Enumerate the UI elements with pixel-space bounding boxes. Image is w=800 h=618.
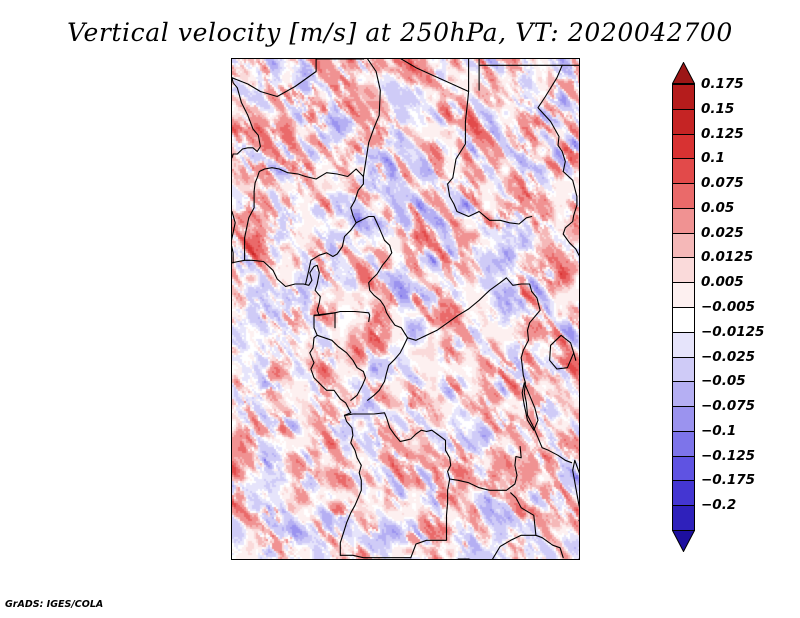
- y-axis-tick: [231, 278, 232, 279]
- colorbar-tick-label: 0.15: [701, 101, 734, 117]
- x-axis-tick: [469, 559, 470, 560]
- colorbar-tick-label: 0.025: [701, 225, 744, 241]
- grads-plot-page: Vertical velocity [m/s] at 250hPa, VT: 2…: [0, 0, 800, 618]
- colorbar-tick-label: −0.1: [701, 423, 736, 439]
- colorbar-band: [672, 233, 695, 259]
- colorbar-tick-label: −0.0125: [701, 324, 764, 340]
- colorbar-tick-label: −0.175: [701, 472, 755, 488]
- y-axis-tick: [231, 153, 232, 154]
- colorbar-band: [672, 480, 695, 506]
- x-axis-tick: [563, 559, 564, 560]
- y-axis-tick: [231, 90, 232, 91]
- y-axis-tick: [231, 528, 232, 529]
- colorbar-tick-label: 0.0125: [701, 249, 753, 265]
- colorbar-tick-label: 0.075: [701, 175, 744, 191]
- colorbar-tick-label: −0.05: [701, 373, 746, 389]
- colorbar-band: [672, 109, 695, 135]
- colorbar-tick-label: 0.125: [701, 126, 744, 142]
- colorbar-band: [672, 332, 695, 358]
- colorbar-tick-label: −0.025: [701, 349, 755, 365]
- x-axis-tick: [437, 559, 438, 560]
- y-axis-tick: [231, 340, 232, 341]
- colorbar-tick-label: 0.005: [701, 274, 744, 290]
- colorbar-tick-label: 0.05: [701, 200, 734, 216]
- colorbar-band: [672, 357, 695, 383]
- colorbar-tick-label: −0.125: [701, 448, 755, 464]
- colorbar-min-arrow: [672, 530, 695, 552]
- colorbar-band: [672, 505, 695, 531]
- colorbar-band: [672, 208, 695, 234]
- x-axis-tick: [500, 559, 501, 560]
- colorbar-tick-label: −0.005: [701, 299, 755, 315]
- colorbar-band: [672, 307, 695, 333]
- x-axis-tick: [342, 559, 343, 560]
- colorbar-band: [672, 431, 695, 457]
- colorbar-tick-label: 0.1: [701, 150, 725, 166]
- colorbar-band: [672, 282, 695, 308]
- colorbar-band: [672, 456, 695, 482]
- colorbar-band: [672, 257, 695, 283]
- colorbar-band: [672, 183, 695, 209]
- y-axis-tick: [231, 403, 232, 404]
- colorbar: 0.1750.150.1250.10.0750.050.0250.01250.0…: [672, 62, 695, 552]
- map-plot-area: 20N15N10N5NEQ5S10S15S3E6E9E12E15E18E21E2…: [231, 58, 580, 560]
- x-axis-tick: [279, 559, 280, 560]
- colorbar-tick-label: −0.2: [701, 497, 736, 513]
- colorbar-band: [672, 158, 695, 184]
- colorbar-band: [672, 134, 695, 160]
- x-axis-tick: [374, 559, 375, 560]
- grads-attribution: GrADS: IGES/COLA: [5, 599, 103, 610]
- x-axis-tick: [311, 559, 312, 560]
- page-title: Vertical velocity [m/s] at 250hPa, VT: 2…: [0, 18, 800, 47]
- vertical-velocity-heatmap: [232, 59, 579, 559]
- colorbar-tick-label: 0.175: [701, 76, 744, 92]
- y-axis-tick: [231, 465, 232, 466]
- colorbar-tick-label: −0.075: [701, 398, 755, 414]
- x-axis-tick: [406, 559, 407, 560]
- colorbar-band: [672, 84, 695, 110]
- colorbar-band: [672, 406, 695, 432]
- y-axis-tick: [231, 215, 232, 216]
- colorbar-band: [672, 381, 695, 407]
- x-axis-tick: [532, 559, 533, 560]
- colorbar-max-arrow: [672, 62, 695, 84]
- x-axis-tick: [248, 559, 249, 560]
